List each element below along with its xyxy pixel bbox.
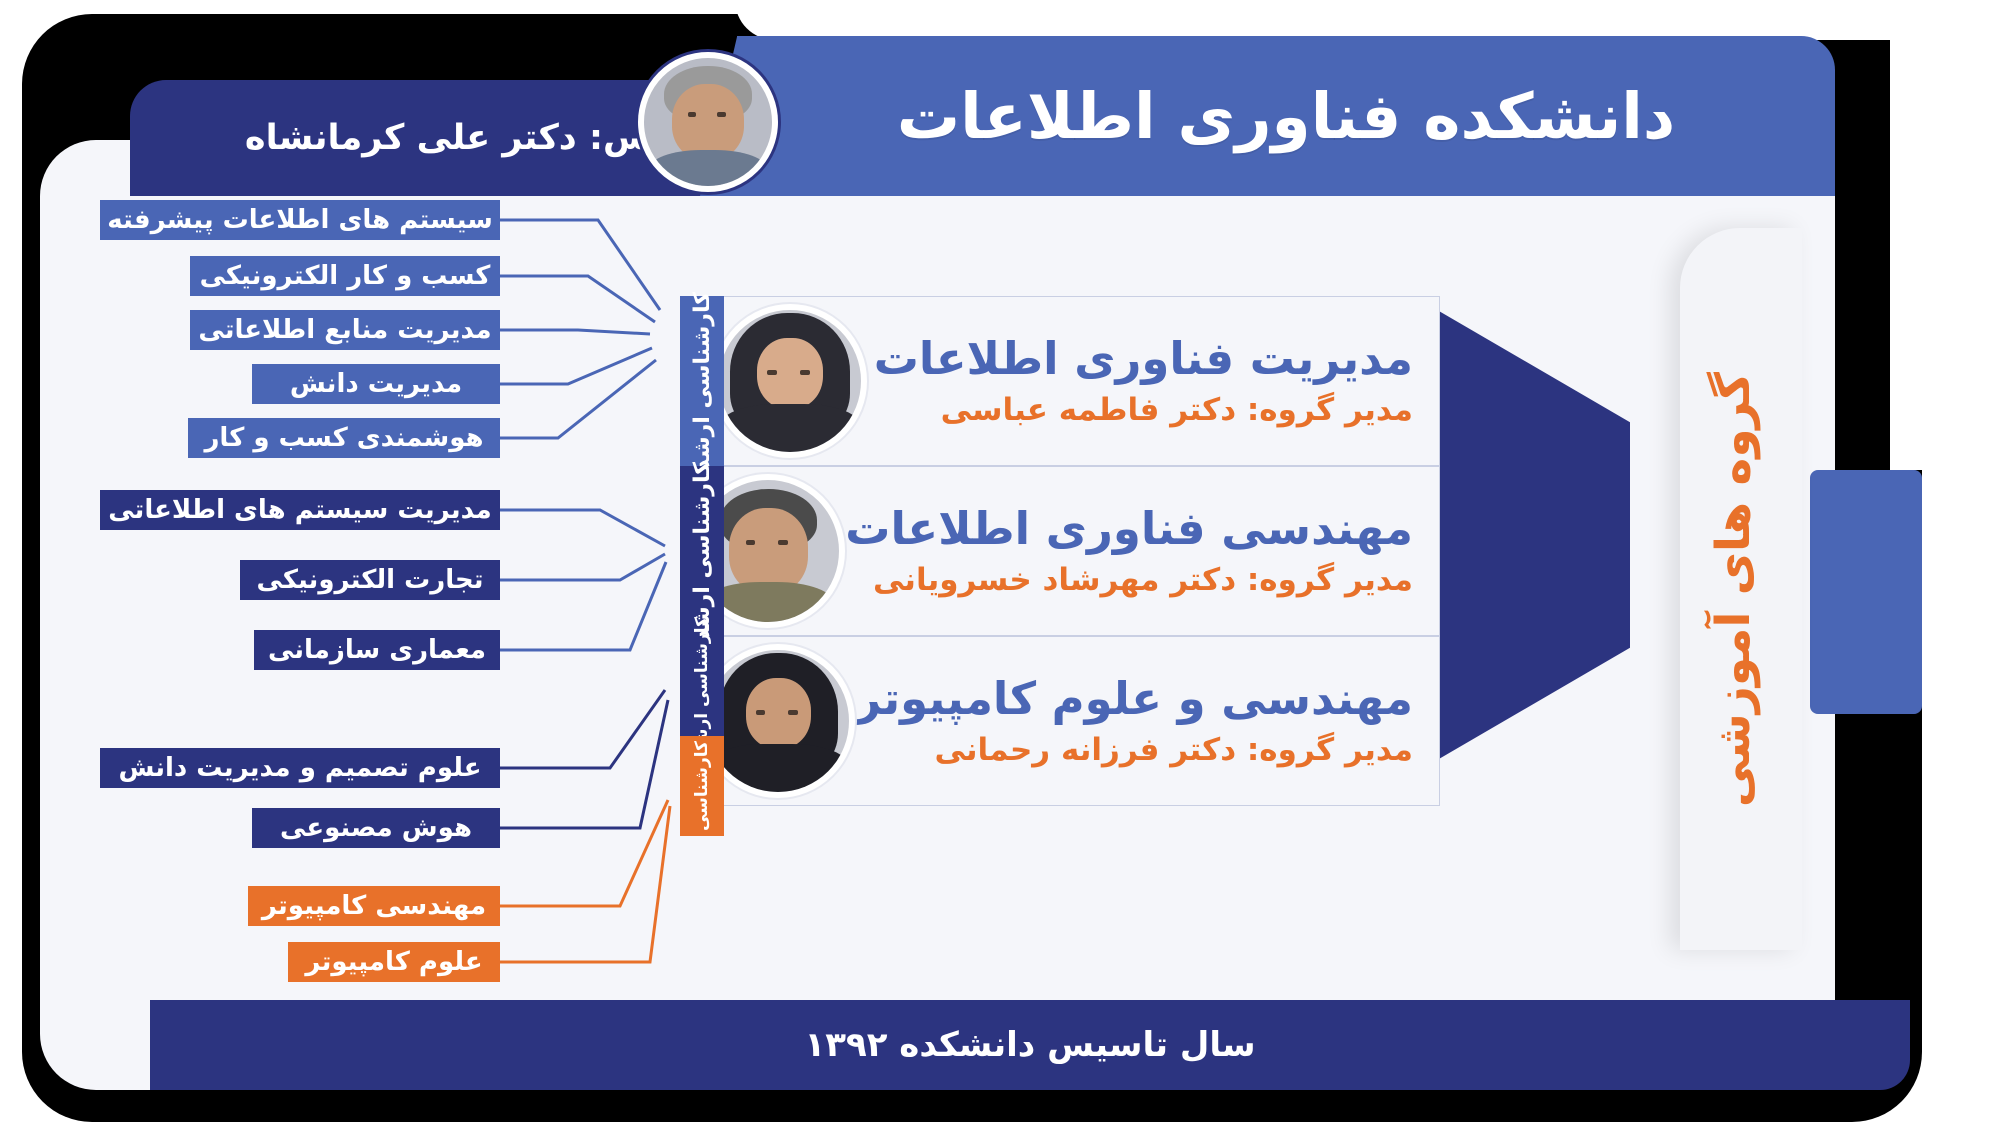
funnel-body bbox=[1420, 300, 1630, 770]
educational-groups-text: گروه های آموزشی bbox=[1706, 372, 1761, 807]
educational-groups-label: گروه های آموزشی bbox=[1663, 380, 1803, 800]
field-chip[interactable]: مدیریت دانش bbox=[252, 364, 500, 404]
department-head-portrait bbox=[707, 650, 849, 792]
field-chip[interactable]: هوشمندی کسب و کار bbox=[188, 418, 500, 458]
infographic-root: گروه های آموزشی دانشکده فناوری اطلاعات ر… bbox=[0, 0, 2000, 1134]
president-portrait bbox=[644, 58, 772, 186]
founding-year-text: سال تاسیس دانشکده ۱۳۹۲ bbox=[804, 1025, 1255, 1065]
department-head: مدیر گروه: دکتر فرزانه رحمانی bbox=[855, 732, 1413, 768]
department-row-computer-science[interactable]: مهندسی و علوم کامپیوتر مدیر گروه: دکتر ف… bbox=[700, 636, 1440, 806]
department-head-avatar bbox=[713, 304, 867, 458]
header-bar: دانشکده فناوری اطلاعات bbox=[737, 36, 1835, 196]
department-text-block: مهندسی و علوم کامپیوتر مدیر گروه: دکتر ف… bbox=[855, 674, 1439, 768]
department-head-avatar bbox=[701, 644, 855, 798]
department-row-it-engineering[interactable]: مهندسی فناوری اطلاعات مدیر گروه: دکتر مه… bbox=[700, 466, 1440, 636]
degree-tab-masters-1[interactable]: کارشناسی ارشد bbox=[680, 296, 724, 466]
degree-tab-bachelors[interactable]: کارشناسی bbox=[680, 736, 724, 836]
right-accent-band bbox=[1810, 470, 1922, 714]
field-chip-bachelor[interactable]: علوم کامپیوتر bbox=[288, 942, 500, 982]
field-chip[interactable]: مدیریت منابع اطلاعاتی bbox=[190, 310, 500, 350]
degree-tab-masters-1-label: کارشناسی ارشد bbox=[690, 292, 715, 471]
page-title: دانشکده فناوری اطلاعات bbox=[897, 80, 1675, 153]
field-chip[interactable]: هوش مصنوعی bbox=[252, 808, 500, 848]
department-head-portrait bbox=[719, 310, 861, 452]
degree-tab-masters-2[interactable]: کارشناسی ارشد bbox=[680, 466, 724, 636]
field-chip-bachelor[interactable]: مهندسی کامپیوتر bbox=[248, 886, 500, 926]
field-chip[interactable]: سیستم های اطلاعات پیشرفته bbox=[100, 200, 500, 240]
field-chip[interactable]: علوم تصمیم و مدیریت دانش bbox=[100, 748, 500, 788]
department-title: مدیریت فناوری اطلاعات bbox=[867, 334, 1413, 384]
department-title: مهندسی فناوری اطلاعات bbox=[845, 504, 1413, 554]
footer-bar: سال تاسیس دانشکده ۱۳۹۲ bbox=[150, 1000, 1910, 1090]
degree-tab-masters-2-label: کارشناسی ارشد bbox=[690, 462, 715, 641]
degree-tab-masters-3-label: کارشناسی ارشد bbox=[692, 617, 712, 755]
department-text-block: مدیریت فناوری اطلاعات مدیر گروه: دکتر فا… bbox=[867, 334, 1439, 428]
department-text-block: مهندسی فناوری اطلاعات مدیر گروه: دکتر مه… bbox=[845, 504, 1439, 598]
field-chip[interactable]: تجارت الکترونیکی bbox=[240, 560, 500, 600]
department-title: مهندسی و علوم کامپیوتر bbox=[855, 674, 1413, 724]
president-avatar bbox=[638, 52, 778, 192]
frame-notch-top bbox=[735, 0, 1925, 40]
field-chip[interactable]: معماری سازمانی bbox=[254, 630, 500, 670]
field-chip[interactable]: مدیریت سیستم های اطلاعاتی bbox=[100, 490, 500, 530]
degree-tab-bachelors-label: کارشناسی bbox=[692, 741, 712, 831]
department-row-it-management[interactable]: مدیریت فناوری اطلاعات مدیر گروه: دکتر فا… bbox=[700, 296, 1440, 466]
department-head: مدیر گروه: دکتر مهرشاد خسرویانی bbox=[845, 562, 1413, 598]
degree-tab-masters-3[interactable]: کارشناسی ارشد bbox=[680, 636, 724, 736]
department-head: مدیر گروه: دکتر فاطمه عباسی bbox=[867, 392, 1413, 428]
frame-notch-right bbox=[1890, 0, 2000, 470]
field-chip[interactable]: کسب و کار الکترونیکی bbox=[190, 256, 500, 296]
